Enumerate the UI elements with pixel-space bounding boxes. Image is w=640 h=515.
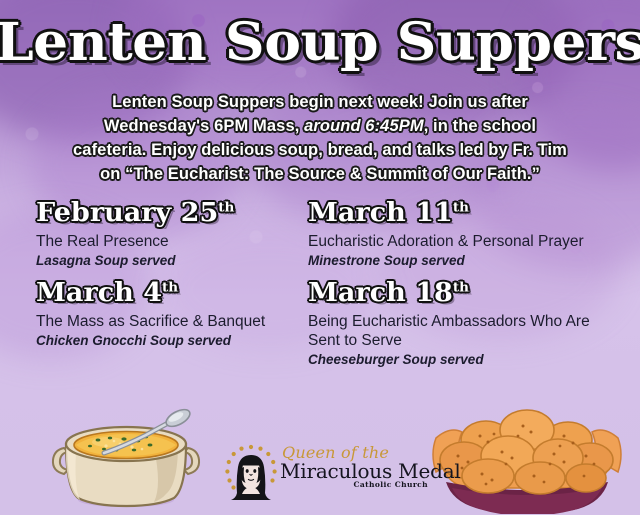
session-soup: Lasagna Soup served <box>36 252 308 270</box>
session-item: February 25th The Real Presence Lasagna … <box>36 198 308 272</box>
intro-line-4: on “The Eucharist: The Source & Summit o… <box>100 165 540 183</box>
session-soup: Minestrone Soup served <box>308 252 614 270</box>
session-list: February 25th The Real Presence Lasagna … <box>36 198 614 371</box>
session-date-suffix: th <box>162 280 178 295</box>
session-item: March 11th Eucharistic Adoration & Perso… <box>308 198 614 272</box>
session-date: March 4th <box>36 278 319 308</box>
session-topic: The Mass as Sacrifice & Banquet <box>36 312 298 331</box>
session-date: March 11th <box>308 198 626 228</box>
intro-line-2a: Wednesday's 6PM Mass, <box>104 117 300 135</box>
session-soup: Chicken Gnocchi Soup served <box>36 332 308 350</box>
session-date-main: March 18 <box>308 278 453 308</box>
session-date-suffix: th <box>453 280 469 295</box>
intro-line-3: cafeteria. Enjoy delicious soup, bread, … <box>73 141 567 159</box>
session-topic: Eucharistic Adoration & Personal Prayer <box>308 232 608 251</box>
session-soup: Cheeseburger Soup served <box>308 351 614 369</box>
session-item: March 4th The Mass as Sacrifice & Banque… <box>36 278 308 371</box>
session-topic: Being Eucharistic Ambassadors Who Are Se… <box>308 312 608 350</box>
intro-line-2-emphasis: around 6:45PM <box>304 117 424 135</box>
session-date: February 25th <box>36 198 319 228</box>
session-date-main: March 11 <box>308 198 453 228</box>
intro-line-2b: , in the school <box>424 117 536 135</box>
session-date-suffix: th <box>218 200 234 215</box>
marian-figure-with-star-halo-icon <box>222 442 280 500</box>
session-date-main: February 25 <box>36 198 218 228</box>
intro-paragraph: Lenten Soup Suppers begin next week! Joi… <box>34 90 606 186</box>
session-topic: The Real Presence <box>36 232 298 251</box>
session-date: March 18th <box>308 278 626 308</box>
session-item: March 18th Being Eucharistic Ambassadors… <box>308 278 614 371</box>
intro-line-1: Lenten Soup Suppers begin next week! Joi… <box>112 93 528 111</box>
bread-basket-illustration <box>428 396 626 514</box>
lenten-soup-suppers-poster: Lenten Soup Suppers Lenten Soup Suppers … <box>0 0 640 515</box>
soup-pot-illustration <box>46 404 206 512</box>
poster-title: Lenten Soup Suppers <box>0 12 640 73</box>
session-date-main: March 4 <box>36 278 162 308</box>
parish-logo-text: Queen of the Miraculous Medal Catholic C… <box>280 440 428 500</box>
session-date-suffix: th <box>453 200 469 215</box>
logo-line-catholic-church: Catholic Church <box>354 480 428 489</box>
parish-logo: Queen of the Miraculous Medal Catholic C… <box>222 440 427 502</box>
